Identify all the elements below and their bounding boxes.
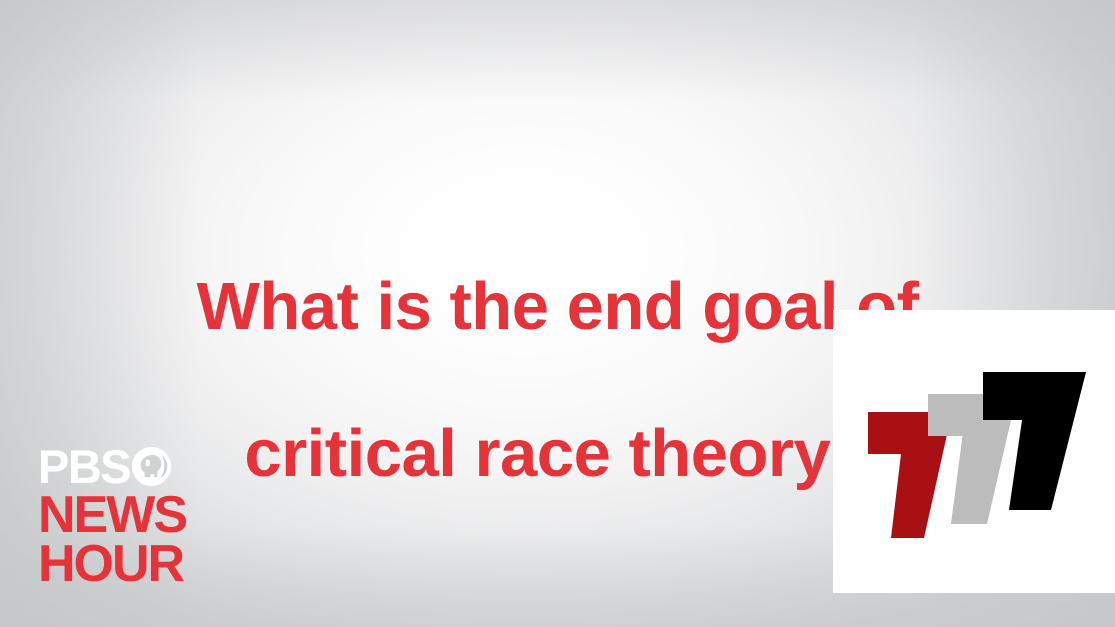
pbs-head-icon — [130, 446, 172, 487]
pbs-wordmark: PBS — [38, 443, 130, 490]
newshour-line-hour: HOUR — [38, 540, 248, 589]
overlay-panel — [833, 310, 1115, 593]
video-frame: What is the end goal of critical race th… — [0, 0, 1115, 627]
pbs-newshour-logo: PBS NEWS HOUR — [38, 443, 248, 589]
pbs-network-row: PBS — [38, 443, 248, 489]
newshour-line-news: NEWS — [38, 491, 248, 540]
